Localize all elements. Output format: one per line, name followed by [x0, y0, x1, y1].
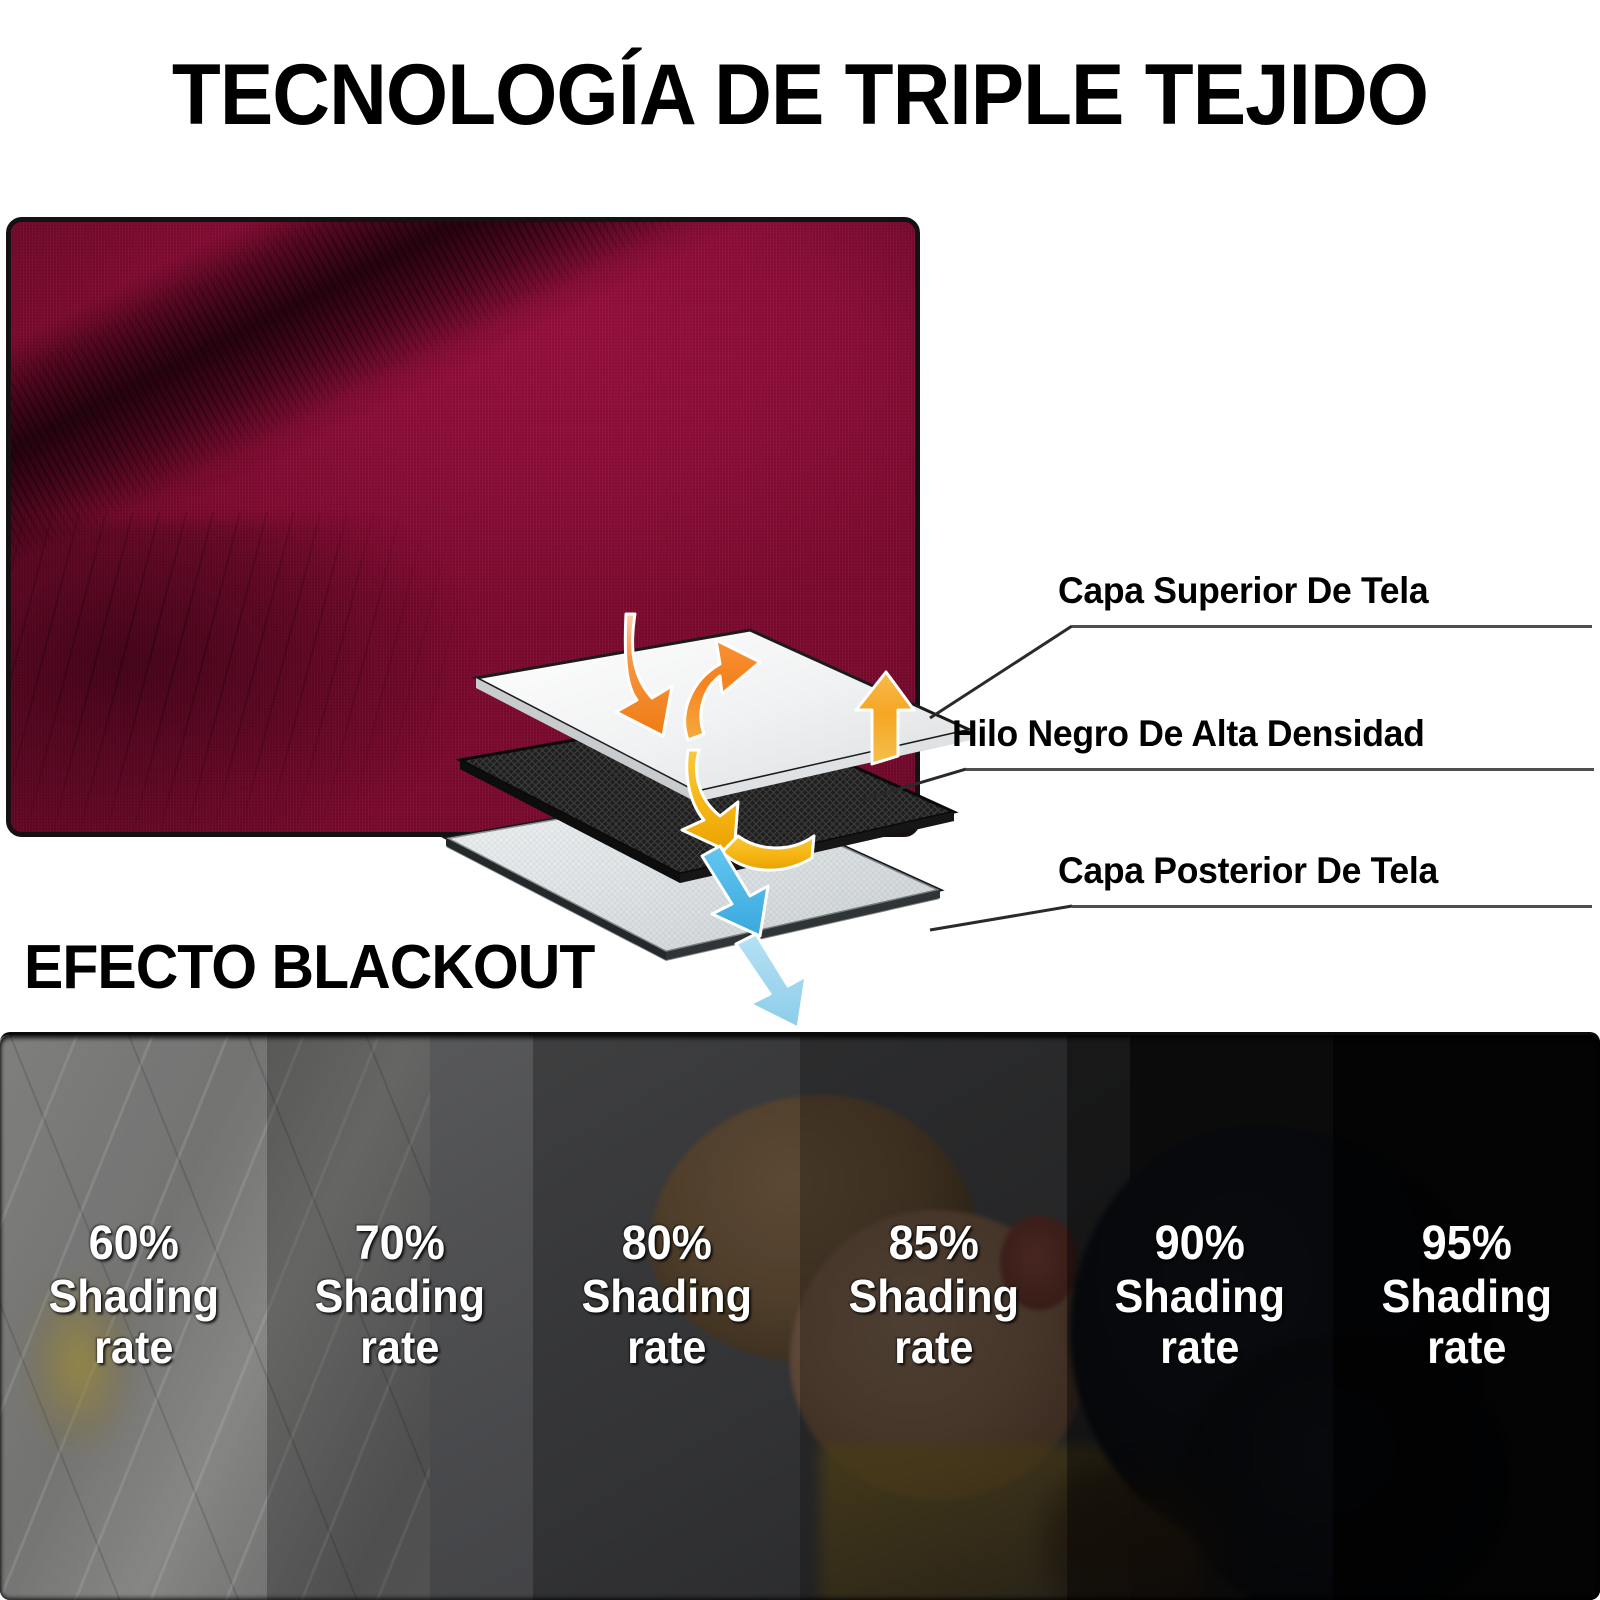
- shading-rate-comparison-strip: 60%Shadingrate70%Shadingrate80%Shadingra…: [0, 1032, 1600, 1600]
- shading-label-line2-80: rate: [581, 1322, 752, 1374]
- callout-label-top-fabric-layer: Capa Superior De Tela: [1058, 572, 1428, 609]
- shading-label-line1-90: Shading: [1115, 1271, 1286, 1323]
- shading-panel-85: 85%Shadingrate: [800, 1035, 1067, 1600]
- callout-rule-top: [1072, 625, 1592, 628]
- shading-label-line2-95: rate: [1381, 1322, 1552, 1374]
- light-blue-down-arrow: [736, 934, 806, 1028]
- shading-label-line1-85: Shading: [848, 1271, 1019, 1323]
- shading-label-line1-80: Shading: [581, 1271, 752, 1323]
- shading-panel-60: 60%Shadingrate: [0, 1035, 267, 1600]
- shading-label-line2-90: rate: [1115, 1322, 1286, 1374]
- shading-percent-85: 85%: [848, 1217, 1019, 1271]
- infographic-page: TECNOLOGÍA DE TRIPLE TEJIDO: [0, 0, 1600, 1600]
- shading-panel-text-80: 80%Shadingrate: [576, 1217, 757, 1374]
- shading-label-line1-95: Shading: [1381, 1271, 1552, 1323]
- shading-label-line2-70: rate: [315, 1322, 486, 1374]
- shading-panel-text-85: 85%Shadingrate: [843, 1217, 1024, 1374]
- shading-percent-80: 80%: [581, 1217, 752, 1271]
- callout-rule-bottom: [1072, 905, 1592, 908]
- shading-panel-text-90: 90%Shadingrate: [1109, 1217, 1290, 1374]
- callout-label-back-fabric-layer: Capa Posterior De Tela: [1058, 852, 1438, 889]
- shading-panel-80: 80%Shadingrate: [533, 1035, 800, 1600]
- callout-rule-middle: [966, 768, 1594, 771]
- shading-panel-text-70: 70%Shadingrate: [309, 1217, 490, 1374]
- shading-panel-70: 70%Shadingrate: [267, 1035, 534, 1600]
- page-title: TECNOLOGÍA DE TRIPLE TEJIDO: [56, 52, 1544, 138]
- shading-percent-70: 70%: [315, 1217, 486, 1271]
- shading-panel-text-60: 60%Shadingrate: [43, 1217, 224, 1374]
- shading-label-line2-85: rate: [848, 1322, 1019, 1374]
- shading-label-line1-70: Shading: [315, 1271, 486, 1323]
- shading-panel-90: 90%Shadingrate: [1067, 1035, 1334, 1600]
- shading-percent-90: 90%: [1115, 1217, 1286, 1271]
- shading-label-line1-60: Shading: [48, 1271, 219, 1323]
- callout-label-black-yarn-layer: Hilo Negro De Alta Densidad: [952, 715, 1424, 752]
- shading-panel-text-95: 95%Shadingrate: [1376, 1217, 1557, 1374]
- shading-percent-95: 95%: [1381, 1217, 1552, 1271]
- shading-label-line2-60: rate: [48, 1322, 219, 1374]
- shading-percent-60: 60%: [48, 1217, 219, 1271]
- blackout-section-title: EFECTO BLACKOUT: [24, 937, 594, 999]
- shading-panel-95: 95%Shadingrate: [1333, 1035, 1600, 1600]
